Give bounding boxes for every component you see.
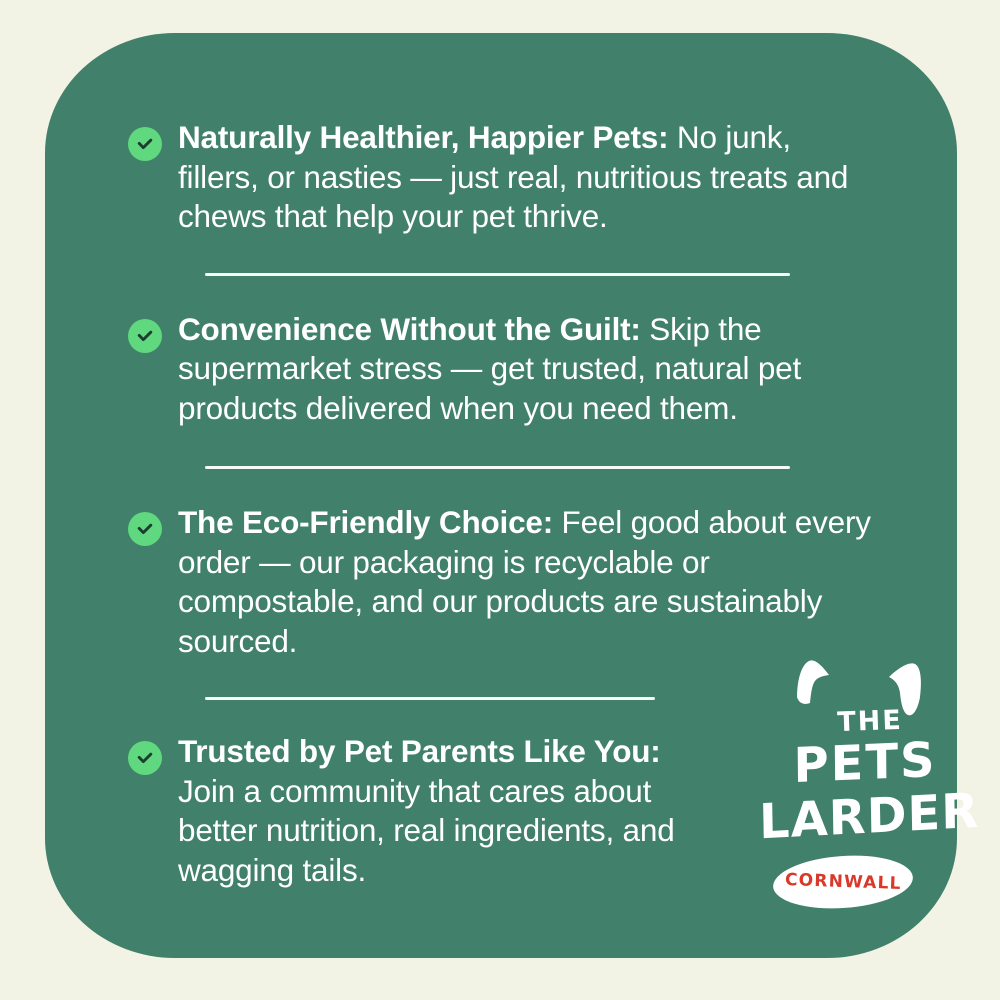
check-circle-icon [128, 127, 162, 161]
cornwall-badge: CORNWALL [771, 851, 914, 913]
brand-logo: THE PETS LARDER CORNWALL [763, 651, 963, 921]
benefit-text: Convenience Without the Guilt: Skip the … [178, 310, 893, 429]
divider [205, 466, 790, 469]
benefit-lead: Convenience Without the Guilt: [178, 311, 641, 347]
benefit-lead: The Eco-Friendly Choice: [178, 504, 553, 540]
benefits-card: Naturally Healthier, Happier Pets: No ju… [45, 33, 957, 958]
benefit-text: Naturally Healthier, Happier Pets: No ju… [178, 118, 878, 237]
divider [205, 697, 655, 700]
benefit-item: Convenience Without the Guilt: Skip the … [128, 310, 928, 429]
divider [205, 273, 790, 276]
benefit-text: The Eco-Friendly Choice: Feel good about… [178, 503, 893, 661]
cornwall-badge-text: CORNWALL [784, 870, 901, 894]
benefit-item: The Eco-Friendly Choice: Feel good about… [128, 503, 928, 661]
logo-line-larder: LARDER [759, 784, 964, 851]
benefit-item: Naturally Healthier, Happier Pets: No ju… [128, 118, 928, 237]
benefit-lead: Trusted by Pet Parents Like You: [178, 733, 661, 769]
check-circle-icon [128, 512, 162, 546]
benefit-body: Join a community that cares about better… [178, 773, 675, 888]
benefit-lead: Naturally Healthier, Happier Pets: [178, 119, 668, 155]
check-circle-icon [128, 319, 162, 353]
benefit-text: Trusted by Pet Parents Like You: Join a … [178, 732, 688, 890]
logo-wordmark: THE PETS LARDER [763, 706, 963, 845]
check-circle-icon [128, 741, 162, 775]
